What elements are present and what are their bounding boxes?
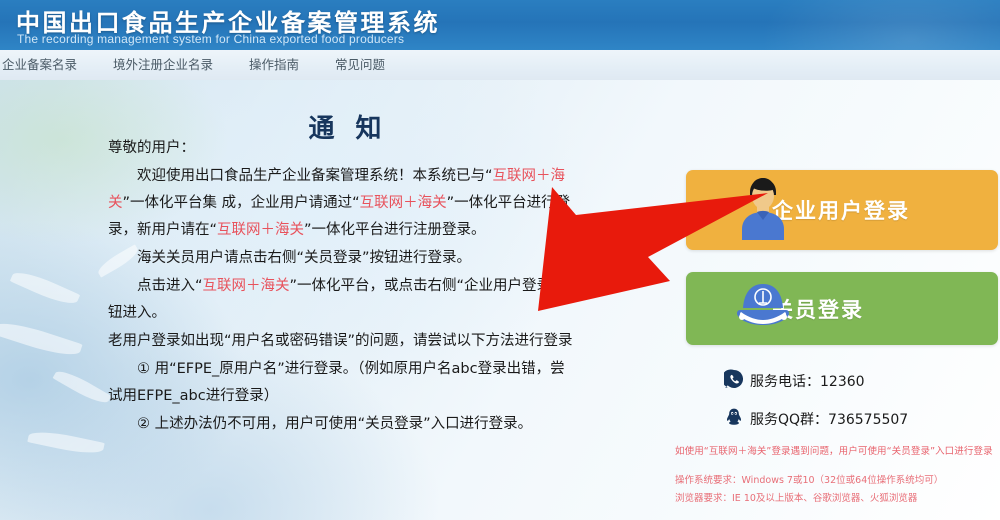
person-icon	[728, 170, 798, 250]
decorative-leaf	[27, 427, 104, 457]
notice-paragraph-5: ① 用“EFPE_原用户名”进行登录。（例如原用户名abc登录出错，尝试用EFP…	[108, 356, 578, 410]
nav-item-enterprise-registry[interactable]: 企业备案名录	[0, 50, 95, 80]
decorative-leaf	[0, 317, 83, 362]
login-warning-note: 如使用“互联网＋海关”登录遇到问题，用户可使用“关员登录”入口进行登录	[675, 443, 1000, 457]
notice-salutation: 尊敬的用户：	[108, 135, 578, 162]
notice-paragraph-2: 海关关员用户请点击右侧“关员登录”按钮进行登录。	[108, 245, 578, 272]
service-qq-label: 服务QQ群：736575507	[750, 412, 908, 428]
notice-body: 尊敬的用户： 欢迎使用出口食品生产企业备案管理系统！本系统已与“互联网＋海关”一…	[108, 135, 578, 439]
service-phone: 服务电话：12360	[750, 371, 865, 391]
os-requirement-note: 操作系统要求：Windows 7或10（32位或64位操作系统均可）	[675, 472, 1000, 486]
page-root: 中国出口食品生产企业备案管理系统 The recording managemen…	[0, 0, 1000, 520]
nav-item-guide[interactable]: 操作指南	[231, 50, 317, 80]
notice-paragraph-3: 点击进入“互联网＋海关”一体化平台，或点击右侧“企业用户登录”按钮进入。	[108, 273, 578, 327]
notice-p3-highlight: 互联网＋海关	[203, 278, 290, 294]
notice-paragraph-1: 欢迎使用出口食品生产企业备案管理系统！本系统已与“互联网＋海关”一体化平台集 成…	[108, 163, 578, 244]
site-title-en: The recording management system for Chin…	[17, 32, 404, 46]
main-navbar: 企业备案名录 境外注册企业名录 操作指南 常见问题	[0, 50, 1000, 81]
nav-list: 企业备案名录 境外注册企业名录 操作指南 常见问题	[0, 50, 403, 80]
notice-p1-part-d: ”一体化平台进行注册登录。	[304, 222, 486, 238]
decorative-leaf	[53, 366, 112, 408]
phone-icon	[724, 369, 744, 389]
notice-p1-part-b: ”一体化平台集 成，企业用户请通过“	[123, 195, 360, 211]
service-qq: 服务QQ群：736575507	[750, 409, 908, 429]
customs-cap-icon	[728, 272, 798, 345]
browser-requirement-note: 浏览器要求：IE 10及以上版本、谷歌浏览器、火狐浏览器	[675, 490, 1000, 504]
enterprise-login-button[interactable]: 企业用户登录	[686, 170, 998, 250]
notice-paragraph-4: 老用户登录如出现“用户名或密码错误”的问题，请尝试以下方法进行登录	[108, 328, 578, 355]
notice-p3-part-a: 点击进入“	[137, 278, 203, 294]
notice-paragraph-6: ② 上述办法仍不可用，用户可使用“关员登录”入口进行登录。	[108, 411, 578, 438]
site-header: 中国出口食品生产企业备案管理系统 The recording managemen…	[0, 0, 1000, 50]
decorative-leaf	[10, 266, 80, 309]
nav-item-faq[interactable]: 常见问题	[317, 50, 403, 80]
qq-penguin-icon	[724, 407, 744, 427]
notice-p1-highlight-3: 互联网＋海关	[217, 222, 304, 238]
service-phone-label: 服务电话：12360	[750, 374, 865, 390]
nav-item-overseas-registry[interactable]: 境外注册企业名录	[95, 50, 231, 80]
notice-p1-part-a: 欢迎使用出口食品生产企业备案管理系统！本系统已与“	[137, 168, 493, 184]
officer-login-button[interactable]: 关员登录	[686, 272, 998, 345]
notice-p1-highlight-2: 互联网＋海关	[360, 195, 447, 211]
